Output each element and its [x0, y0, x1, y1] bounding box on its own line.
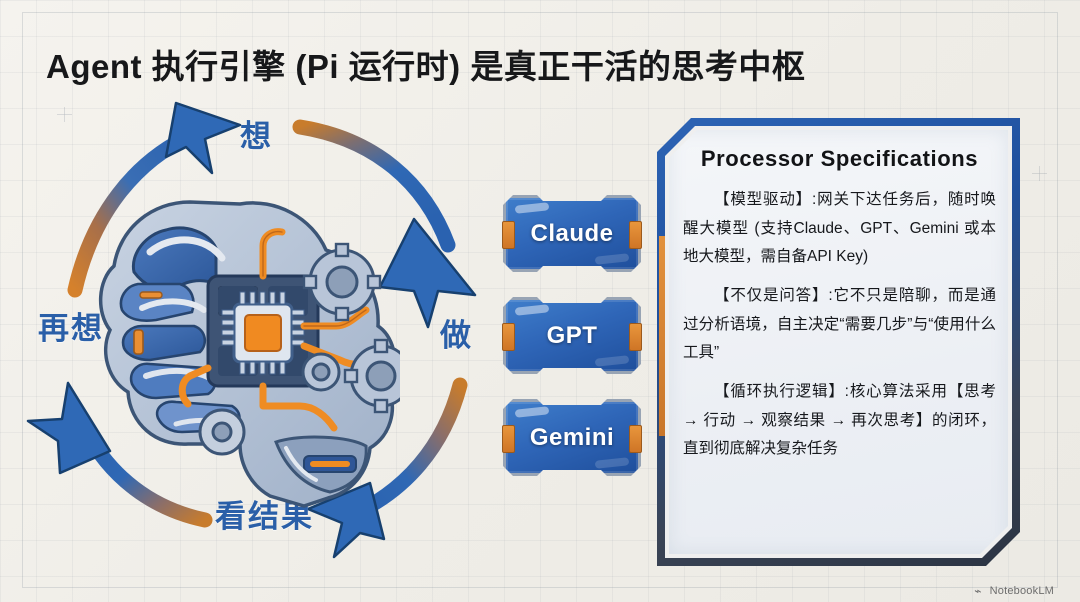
loop-label-do: 做	[440, 310, 473, 355]
chip-pin-left	[502, 323, 515, 351]
chip-pin-right	[629, 323, 642, 351]
chip-pin-right	[629, 425, 642, 453]
notebooklm-watermark: ⌁ NotebookLM	[974, 584, 1054, 598]
chip-label: Claude	[530, 220, 613, 248]
chip-label: GPT	[547, 322, 598, 350]
notebooklm-sparkle-icon: ⌁	[974, 584, 981, 598]
mechanical-brain-icon	[90, 180, 400, 510]
chip-label: Gemini	[530, 424, 614, 452]
panel-content: Processor Specifications 【模型驱动】:网关下达任务后，…	[683, 146, 996, 546]
spec-paragraph-beyond-qa: 【不仅是问答】:它不只是陪聊，而是通过分析语境，自主决定“需要几步”与“使用什么…	[683, 282, 996, 368]
watermark-label: NotebookLM	[990, 585, 1054, 597]
model-chip-gpt[interactable]: GPT	[503, 297, 641, 374]
grid-tick-mark	[1032, 166, 1047, 181]
model-chip-list: Claude GPT Gemini	[503, 195, 643, 501]
loop-label-think: 想	[240, 111, 273, 156]
chip-pin-left	[502, 221, 515, 249]
processor-specifications-panel: Processor Specifications 【模型驱动】:网关下达任务后，…	[657, 118, 1020, 566]
page-title: Agent 执行引擎 (Pi 运行时) 是真正干活的思考中枢	[46, 40, 805, 88]
spec-paragraph-loop-logic: 【循环执行逻辑】:核心算法采用【思考 → 行动 → 观察结果 → 再次思考】的闭…	[683, 378, 996, 464]
model-chip-claude[interactable]: Claude	[503, 195, 641, 272]
model-chip-gemini[interactable]: Gemini	[503, 399, 641, 476]
spec-paragraph-model-driven: 【模型驱动】:网关下达任务后，随时唤醒大模型 (支持Claude、GPT、Gem…	[683, 186, 996, 272]
panel-title: Processor Specifications	[683, 146, 996, 172]
slide-canvas: Agent 执行引擎 (Pi 运行时) 是真正干活的思考中枢	[0, 0, 1080, 602]
chip-pin-right	[629, 221, 642, 249]
chip-pin-left	[502, 425, 515, 453]
